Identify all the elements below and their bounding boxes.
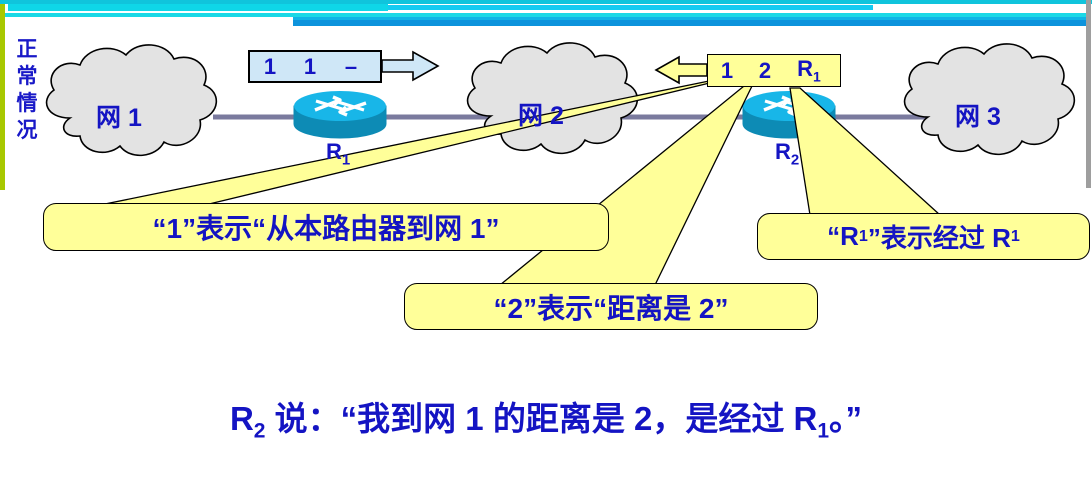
arrow-right-outgoing <box>382 52 438 80</box>
caption-sub: 2 <box>254 420 266 443</box>
packet-box-incoming-cell-2: 2 <box>746 58 784 84</box>
slide-caption: R2 说：“我到网 1 的距离是 2，是经过 R1。” <box>0 392 1092 444</box>
packet-box-incoming-cell-3: R1 <box>784 56 834 84</box>
arrow-left-incoming <box>656 57 707 83</box>
packet-box-incoming-cell-3-text: R <box>797 56 813 81</box>
packet-box-outgoing-cell-2: 1 <box>290 54 330 80</box>
router-r1-icon <box>294 91 386 138</box>
callout-r1-pre: “R <box>827 221 859 252</box>
packet-box-outgoing: 1 1 – <box>248 50 382 83</box>
router-label-r1-sub: 1 <box>342 151 350 168</box>
callout-balloon-meaning-2: “2”表示“距离是 2” <box>404 283 818 330</box>
router-label-r1: R1 <box>326 139 350 168</box>
callout-balloon-meaning-r1: “R1”表示经过 R1 <box>757 213 1090 260</box>
packet-box-outgoing-cell-3: – <box>330 54 372 80</box>
slide-canvas: 正 常 情 况 <box>0 0 1092 495</box>
router-label-r2-sub: 2 <box>791 151 799 168</box>
packet-box-outgoing-cell-1: 1 <box>250 54 290 80</box>
cloud-label-net2: 网 2 <box>518 96 564 132</box>
caption-post: 说：“我到网 1 的距离是 2，是经过 R <box>265 400 817 437</box>
packet-box-incoming: 1 2 R1 <box>707 54 841 87</box>
packet-box-incoming-cell-1: 1 <box>708 58 746 84</box>
router-label-r2: R2 <box>775 139 799 168</box>
callout-r1-sub2: 1 <box>1011 227 1020 246</box>
caption-tail: 。” <box>829 400 862 437</box>
callout-balloon-meaning-1: “1”表示“从本路由器到网 1” <box>43 203 609 251</box>
callout-r1-mid: ”表示经过 R <box>868 218 1011 255</box>
callout-r1-sub1: 1 <box>859 227 868 246</box>
router-label-r2-text: R <box>775 139 791 164</box>
cloud-label-net3: 网 3 <box>955 97 1001 133</box>
caption-pre: R <box>230 400 254 437</box>
caption-sub2: 1 <box>817 420 829 443</box>
cloud-label-net1: 网 1 <box>96 98 142 134</box>
router-label-r1-text: R <box>326 139 342 164</box>
packet-box-incoming-cell-3-sub: 1 <box>813 69 821 85</box>
